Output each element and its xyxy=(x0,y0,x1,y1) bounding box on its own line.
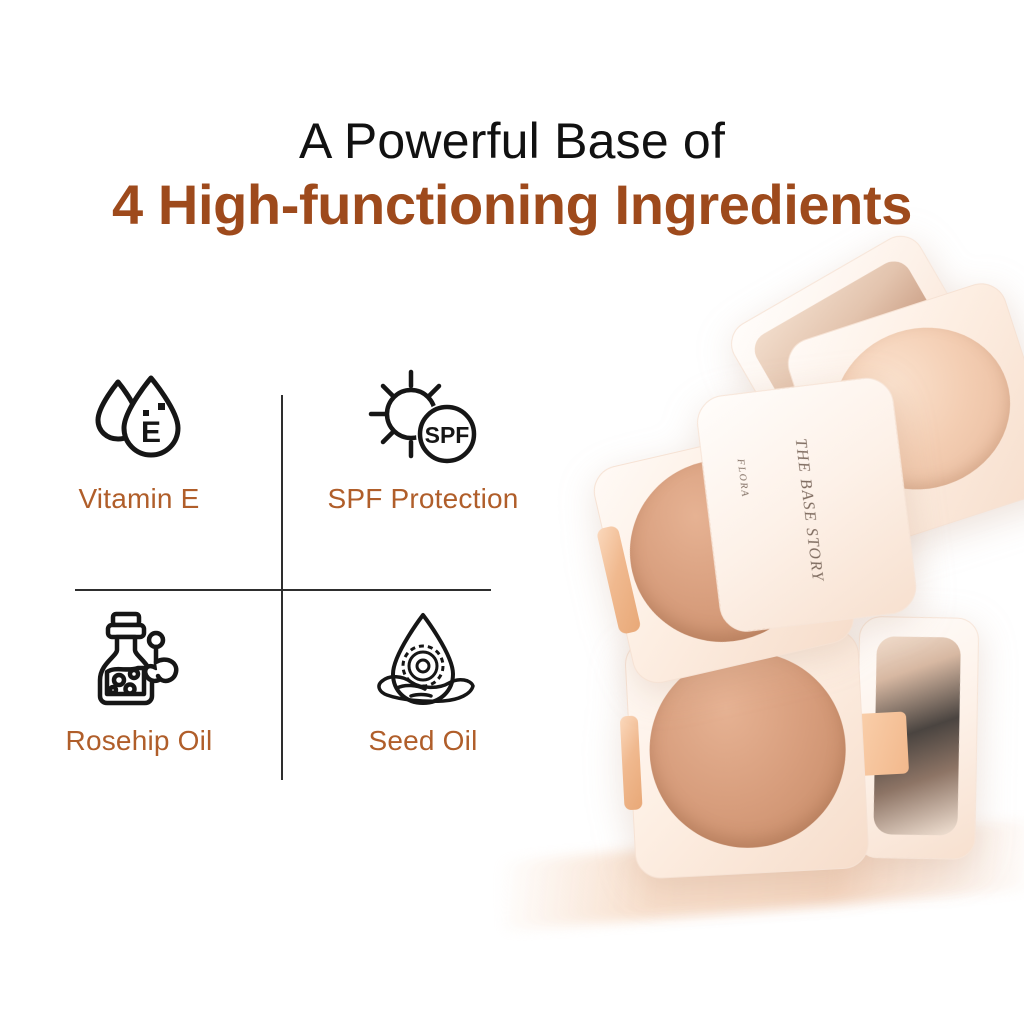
feature-cell-vitamin-e: E Vitamin E xyxy=(8,366,270,516)
spf-icon-text: SPF xyxy=(425,422,470,448)
product-photo-group: THE BASE STORY FLORA xyxy=(520,240,1024,940)
grid-divider-vertical xyxy=(281,395,283,780)
sun-spf-icon: SPF xyxy=(292,366,554,470)
feature-label-vitamin-e: Vitamin E xyxy=(8,482,270,516)
page-title: A Powerful Base of 4 High-functioning In… xyxy=(0,112,1024,236)
feature-cell-spf-protection: SPF SPF Protection xyxy=(292,366,554,516)
ingredient-grid: E Vitamin E xyxy=(0,360,566,810)
feature-label-seed-oil: Seed Oil xyxy=(292,724,554,758)
vitamin-e-icon-letter: E xyxy=(141,416,161,449)
feature-label-rosehip-oil: Rosehip Oil xyxy=(8,724,270,758)
headline-line-1: A Powerful Base of xyxy=(0,112,1024,170)
grid-divider-horizontal xyxy=(75,589,491,591)
vitamin-e-droplets-icon: E xyxy=(8,366,270,470)
rosehip-oil-bottle-icon xyxy=(8,608,270,712)
headline-line-2: 4 High-functioning Ingredients xyxy=(0,174,1024,236)
feature-cell-rosehip-oil: Rosehip Oil xyxy=(8,608,270,758)
seed-oil-droplet-icon xyxy=(292,608,554,712)
feature-label-spf-protection: SPF Protection xyxy=(292,482,554,516)
ingredient-infographic-poster: A Powerful Base of 4 High-functioning In… xyxy=(0,0,1024,1024)
feature-cell-seed-oil: Seed Oil xyxy=(292,608,554,758)
